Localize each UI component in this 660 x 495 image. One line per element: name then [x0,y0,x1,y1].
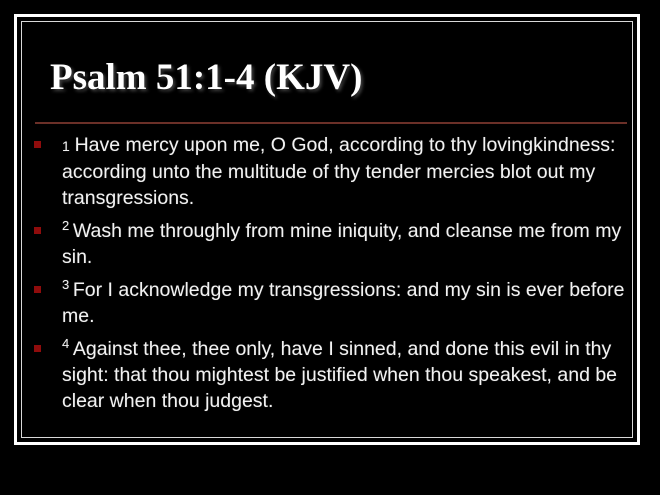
verse-number: 2 [62,218,73,233]
list-item: 2 Wash me throughly from mine iniquity, … [28,218,628,270]
verse-number: 1 [62,138,75,154]
bullet-square-icon [34,286,41,293]
bullet-list: 1 Have mercy upon me, O God, according t… [28,132,628,421]
verse-number: 3 [62,277,73,292]
list-item: 1 Have mercy upon me, O God, according t… [28,132,628,211]
slide-content: Psalm 51:1-4 (KJV) 1 Have mercy upon me,… [28,28,628,431]
list-item: 4 Against thee, thee only, have I sinned… [28,336,628,414]
verse-text: For I acknowledge my transgressions: and… [62,279,625,327]
title-divider-rule [35,122,627,124]
verse-text: Against thee, thee only, have I sinned, … [62,338,617,412]
slide-title: Psalm 51:1-4 (KJV) [50,56,362,100]
bullet-square-icon [34,227,41,234]
list-item: 3 For I acknowledge my transgressions: a… [28,277,628,329]
verse-text: Wash me throughly from mine iniquity, an… [62,220,621,268]
bullet-square-icon [34,345,41,352]
bullet-square-icon [34,141,41,148]
presentation-slide: Psalm 51:1-4 (KJV) 1 Have mercy upon me,… [0,0,660,495]
verse-number: 4 [62,336,73,351]
verse-text: Have mercy upon me, O God, according to … [62,134,615,209]
